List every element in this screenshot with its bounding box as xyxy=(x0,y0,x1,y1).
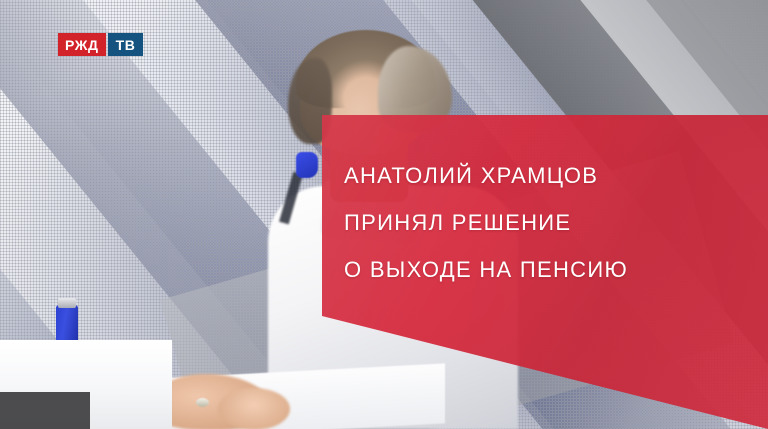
channel-logo: РЖД ТВ xyxy=(58,33,143,56)
headline-line-1: АНАТОЛИЙ ХРАМЦОВ xyxy=(344,152,764,199)
finger-ring xyxy=(196,398,209,407)
water-bottle-cap xyxy=(58,298,76,308)
channel-logo-rzd: РЖД xyxy=(58,33,106,56)
channel-logo-tv: ТВ xyxy=(108,33,144,56)
subject-hand-secondary xyxy=(218,388,290,429)
desk-shadow xyxy=(0,392,90,429)
broadcast-frame: РЖД ТВ АНАТОЛИЙ ХРАМЦОВ ПРИНЯЛ РЕШЕНИЕ О… xyxy=(0,0,768,429)
microphone-head xyxy=(296,152,318,178)
headline-line-3: О ВЫХОДЕ НА ПЕНСИЮ xyxy=(344,246,764,293)
headline-line-2: ПРИНЯЛ РЕШЕНИЕ xyxy=(344,199,764,246)
lower-third-text-block: АНАТОЛИЙ ХРАМЦОВ ПРИНЯЛ РЕШЕНИЕ О ВЫХОДЕ… xyxy=(344,152,764,293)
